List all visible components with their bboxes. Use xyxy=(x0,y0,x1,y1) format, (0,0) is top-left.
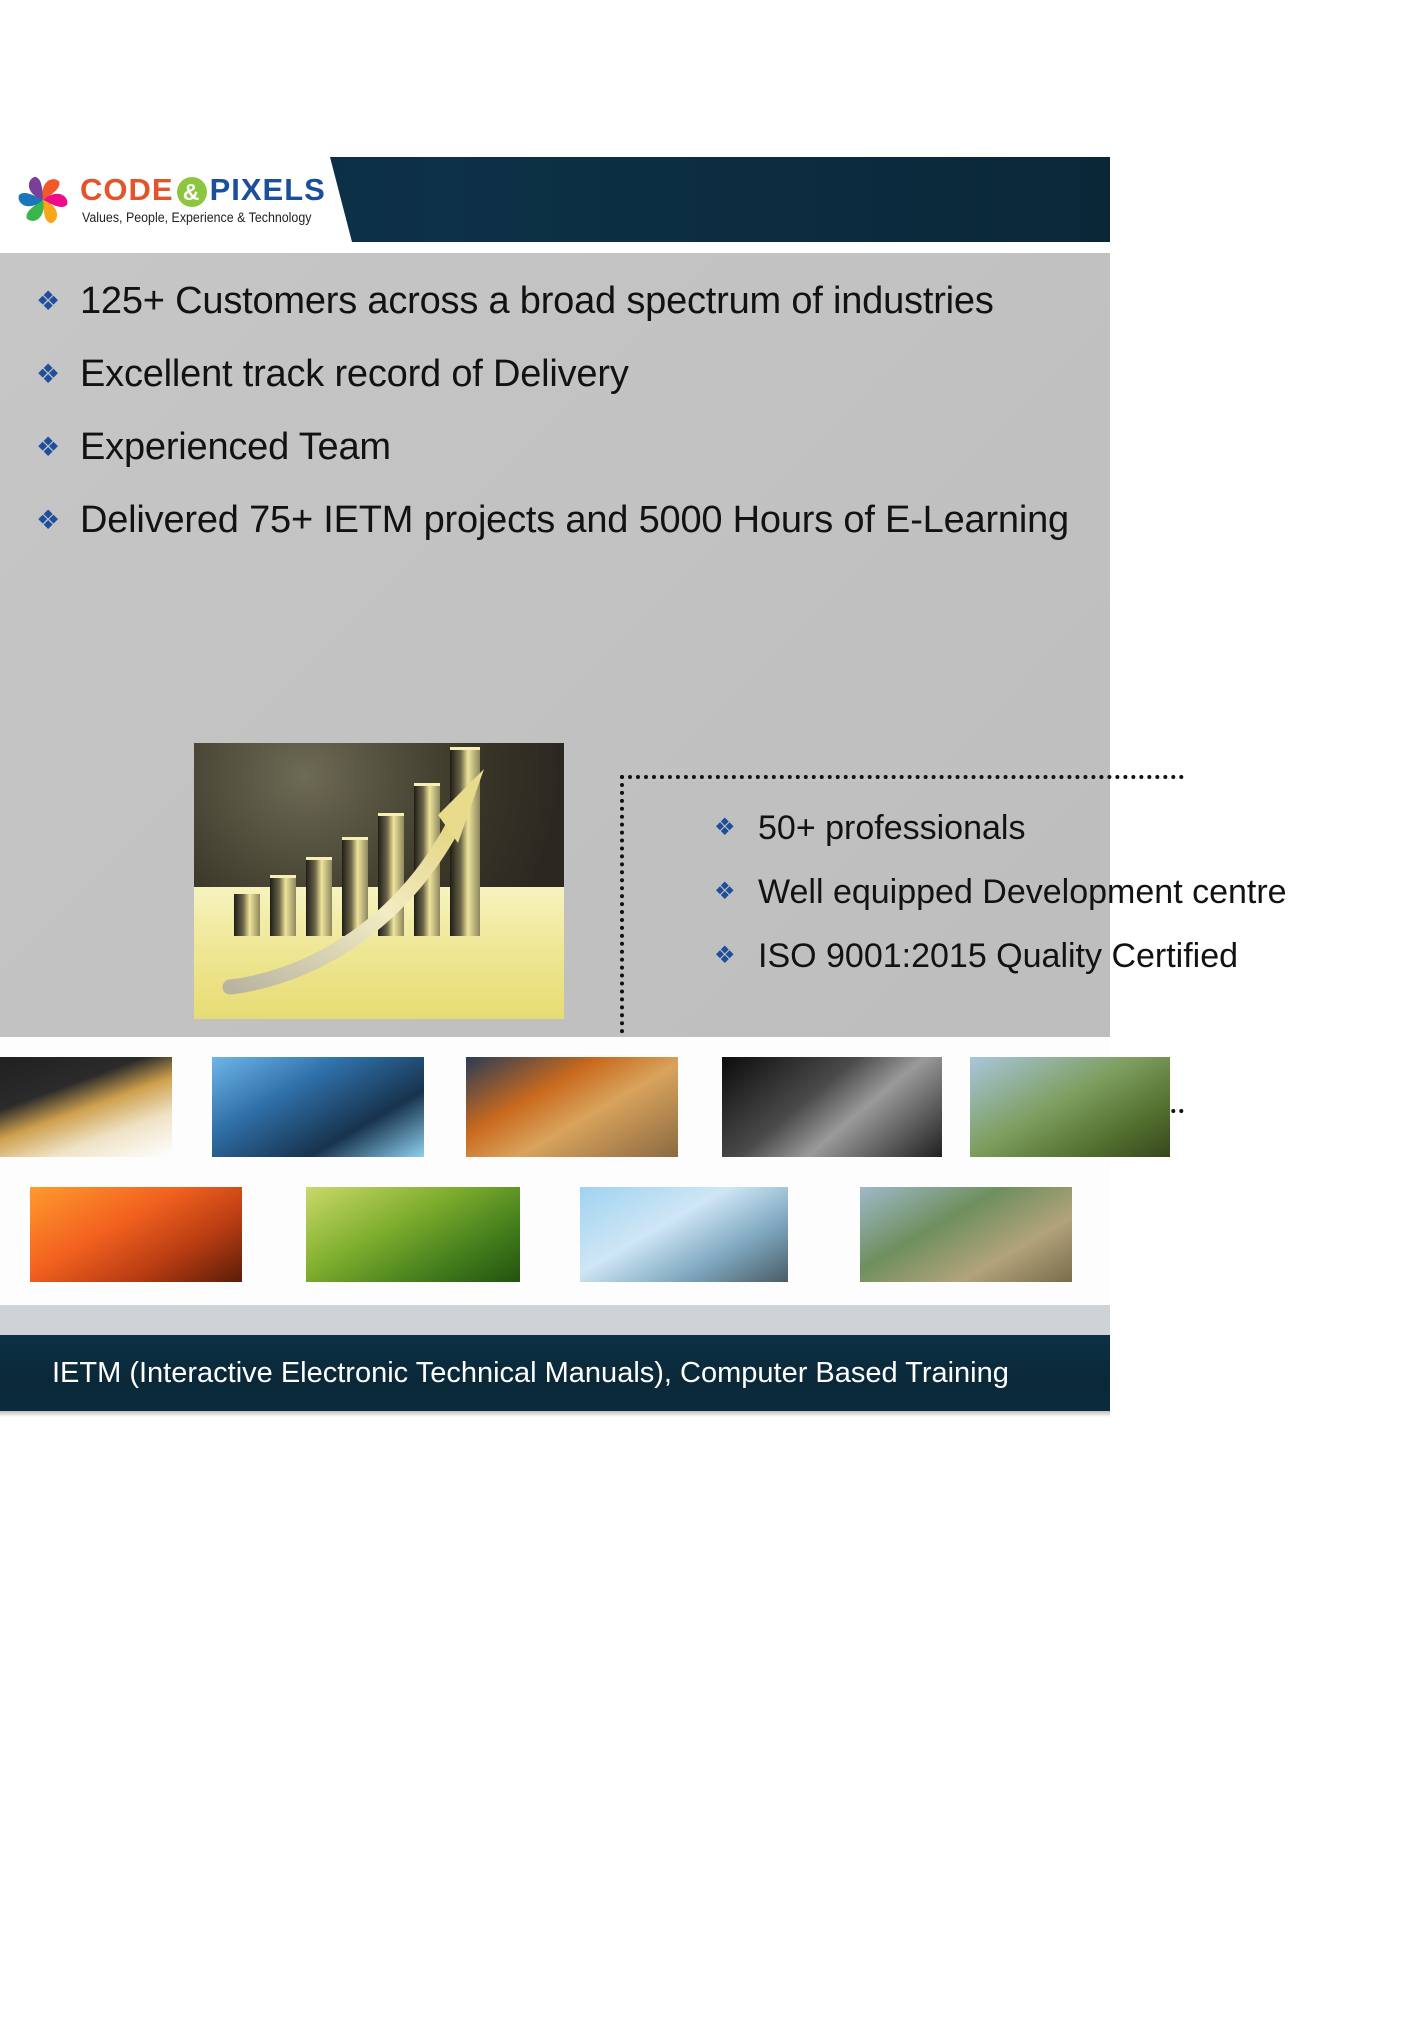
bullet-text: ISO 9001:2015 Quality Certified xyxy=(758,935,1238,977)
list-item: ❖ 125+ Customers across a broad spectrum… xyxy=(36,278,1156,324)
photo-airplane-sunset xyxy=(30,1187,242,1282)
bullet-text: 125+ Customers across a broad spectrum o… xyxy=(80,278,994,324)
brand-wordmark: CODE&PIXELS xyxy=(80,169,342,211)
list-item: ❖ Delivered 75+ IETM projects and 5000 H… xyxy=(36,497,1156,543)
diamond-bullet-icon: ❖ xyxy=(36,424,80,470)
list-item: ❖ 50+ professionals xyxy=(714,807,1287,849)
diamond-bullet-icon: ❖ xyxy=(714,807,758,849)
bullet-text: Well equipped Development centre xyxy=(758,871,1287,913)
diamond-bullet-icon: ❖ xyxy=(36,351,80,397)
photo-telecom-tower xyxy=(580,1187,788,1282)
diamond-bullet-icon: ❖ xyxy=(714,871,758,913)
footer-text: IETM (Interactive Electronic Technical M… xyxy=(0,1357,1009,1390)
photo-strip xyxy=(0,1037,1110,1305)
photo-paddy-field xyxy=(306,1187,520,1282)
photo-steel-cables xyxy=(722,1057,942,1157)
list-item: ❖ Well equipped Development centre xyxy=(714,871,1287,913)
list-item: ❖ Excellent track record of Delivery xyxy=(36,351,1156,397)
brand-logo[interactable]: CODE&PIXELS Values, People, Experience &… xyxy=(12,165,342,237)
bullet-text: Delivered 75+ IETM projects and 5000 Hou… xyxy=(80,497,1069,543)
bullet-text: Experienced Team xyxy=(80,424,391,470)
photo-glass-building xyxy=(212,1057,424,1157)
brand-tagline: Values, People, Experience & Technology xyxy=(82,210,321,225)
photo-graduation-cap xyxy=(0,1057,172,1157)
brand-word-pixels: PIXELS xyxy=(210,172,326,207)
bullet-text: Excellent track record of Delivery xyxy=(80,351,629,397)
slide-footer: IETM (Interactive Electronic Technical M… xyxy=(0,1335,1110,1411)
brand-word-code: CODE xyxy=(80,172,174,207)
list-item: ❖ Experienced Team xyxy=(36,424,1156,470)
pinwheel-logo-icon xyxy=(12,169,74,231)
photo-water-reservoir xyxy=(860,1187,1072,1282)
slide-body: ❖ 125+ Customers across a broad spectrum… xyxy=(0,253,1110,1113)
growth-chart-image xyxy=(194,743,564,1019)
main-bullet-list: ❖ 125+ Customers across a broad spectrum… xyxy=(36,278,1156,570)
presentation-slide: CODE&PIXELS Values, People, Experience &… xyxy=(0,157,1110,1402)
photo-railway-train xyxy=(970,1057,1170,1157)
diamond-bullet-icon: ❖ xyxy=(36,497,80,543)
bullet-text: 50+ professionals xyxy=(758,807,1025,849)
strip-divider xyxy=(0,1305,1110,1335)
growth-arrow-icon xyxy=(222,765,552,995)
slide-header: CODE&PIXELS Values, People, Experience &… xyxy=(0,157,1110,242)
footer-shadow xyxy=(0,1411,1110,1417)
diamond-bullet-icon: ❖ xyxy=(36,278,80,324)
brand-ampersand-badge: & xyxy=(177,177,207,207)
secondary-bullet-list: ❖ 50+ professionals ❖ Well equipped Deve… xyxy=(714,807,1287,999)
photo-construction-worker xyxy=(466,1057,678,1157)
diamond-bullet-icon: ❖ xyxy=(714,935,758,977)
list-item: ❖ ISO 9001:2015 Quality Certified xyxy=(714,935,1287,977)
